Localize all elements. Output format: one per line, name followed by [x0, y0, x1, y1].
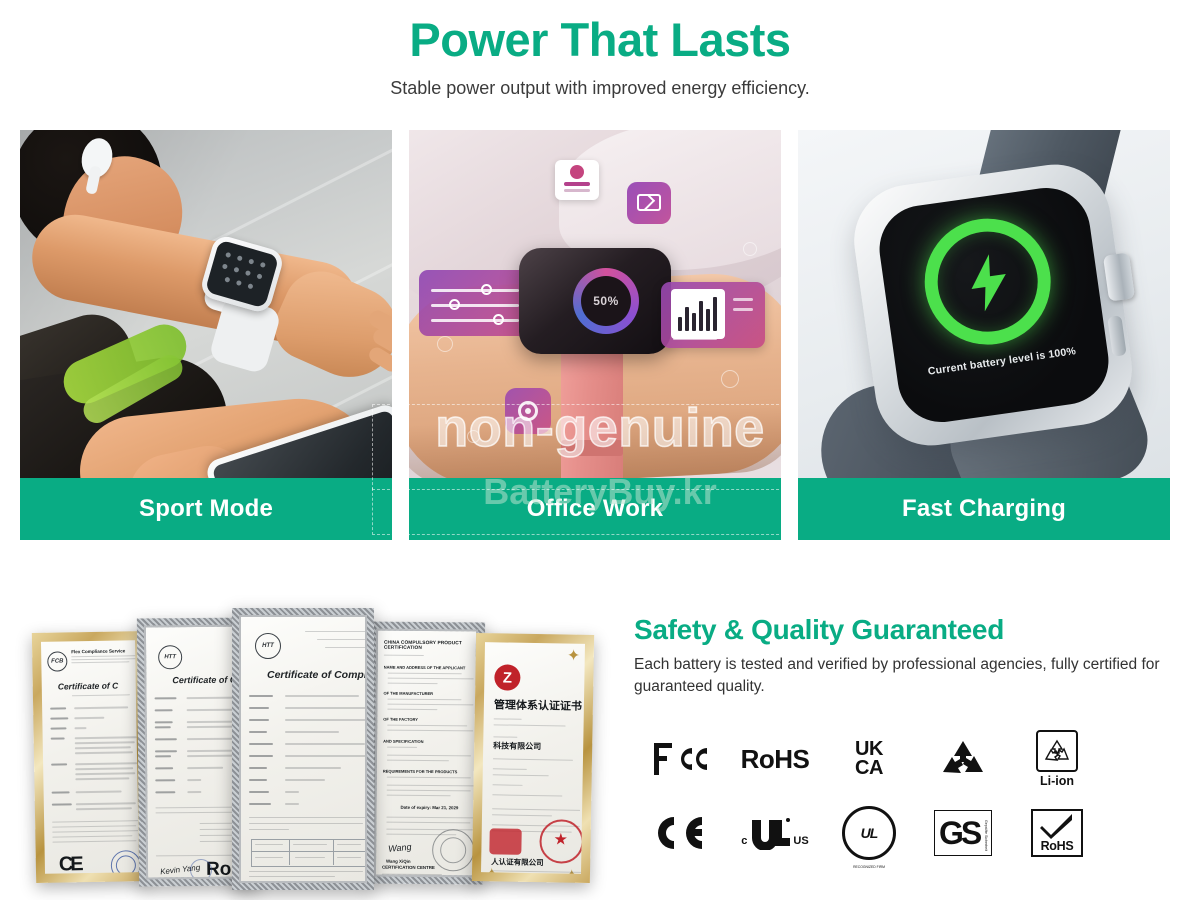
page-subtitle: Stable power output with improved energy…: [0, 76, 1200, 100]
rohs-label: RoHS: [741, 744, 810, 775]
feature-card-fast-charging[interactable]: Current battery level is 100% Fast Charg…: [798, 130, 1170, 540]
infographic-page: Power That Lasts Stable power output wit…: [0, 0, 1200, 900]
watermark-frame: [372, 404, 794, 490]
badge-rohs: RoHS: [728, 722, 822, 796]
ukca-label-bottom: CA: [855, 759, 883, 778]
gs-icon: GS Geprüfte Sicherheit: [934, 810, 992, 856]
smartwatch-office: 50%: [519, 248, 671, 354]
cul-us-icon: c US: [741, 816, 808, 850]
feature-caption-fast-charging: Fast Charging: [798, 478, 1170, 540]
fcc-icon: [652, 739, 710, 779]
chart-app-card: [661, 282, 765, 348]
battery-level-text: Current battery level is 100%: [896, 341, 1108, 382]
certificate-item[interactable]: ✦ ✦ ✦ Z 管理体系认证证书 科技有限公司 ★: [472, 633, 594, 883]
ul-mark-icon: [749, 816, 791, 850]
gs-label: GS: [939, 811, 979, 855]
battery-percent-label: 50%: [593, 294, 619, 308]
checkmark-icon: [1039, 813, 1075, 839]
badge-ce: [634, 796, 728, 870]
fast-charging-photo: Current battery level is 100%: [798, 130, 1170, 478]
badge-fcc: [634, 722, 728, 796]
recycle-icon: [941, 739, 985, 779]
safety-section: Safety & Quality Guaranteed Each battery…: [634, 612, 1182, 698]
certificate-gallery: FCB Flex Compliance Service Certificate …: [18, 600, 618, 890]
certificate-item[interactable]: FCB Flex Compliance Service Certificate …: [32, 631, 148, 883]
ul-label: UL: [861, 825, 878, 841]
badge-row-1: RoHS UK CA: [634, 722, 1104, 796]
ul-circle-icon: UL RECOGNIZED FIRM: [842, 806, 896, 860]
certificate-item[interactable]: CHINA COMPULSORY PRODUCT CERTIFICATION N…: [367, 621, 485, 884]
certificate-item[interactable]: HTT Certificate of Compliance: [232, 608, 374, 890]
badge-cul-us: c US: [728, 796, 822, 870]
badge-rohs-check: RoHS: [1010, 796, 1104, 870]
badge-ul-recognized: UL RECOGNIZED FIRM: [822, 796, 916, 870]
safety-title: Safety & Quality Guaranteed: [634, 612, 1182, 648]
liion-recycle-icon: Li-ion: [1036, 730, 1078, 788]
cul-us-label: US: [793, 835, 808, 847]
lightning-bolt-icon: [963, 252, 1014, 314]
feature-card-sport-mode[interactable]: Sport Mode: [20, 130, 392, 540]
hero-section: Power That Lasts Stable power output wit…: [0, 0, 1200, 120]
badge-liion: Li-ion: [1010, 722, 1104, 796]
ukca-icon: UK CA: [855, 740, 883, 778]
ce-mark-icon: [650, 813, 712, 853]
page-title: Power That Lasts: [0, 14, 1200, 66]
liion-label: Li-ion: [1040, 774, 1074, 788]
certification-badges: RoHS UK CA: [634, 722, 1104, 870]
badge-gs: GS Geprüfte Sicherheit: [916, 796, 1010, 870]
watermark-frame-lower: [372, 488, 794, 535]
safety-description: Each battery is tested and verified by p…: [634, 654, 1182, 698]
settings-sliders-card: [419, 270, 535, 336]
badge-recycle: [916, 722, 1010, 796]
badge-row-2: c US UL RECOGNIZED FIRM GS: [634, 796, 1104, 870]
smartwatch-charging-screen: Current battery level is 100%: [874, 182, 1114, 427]
ul-sublabel: RECOGNIZED FIRM: [831, 865, 907, 869]
rohs-check-label: RoHS: [1041, 839, 1074, 853]
sport-mode-photo: [20, 130, 392, 478]
mail-app-icon: [627, 182, 671, 224]
cul-c-label: c: [741, 835, 747, 847]
gs-sublabel: Geprüfte Sicherheit: [984, 820, 988, 851]
contact-card-icon: [555, 160, 599, 200]
recycle-outline-icon: [1044, 739, 1070, 763]
rohs-check-icon: RoHS: [1031, 809, 1083, 857]
feature-caption-sport-mode: Sport Mode: [20, 478, 392, 540]
badge-ukca: UK CA: [822, 722, 916, 796]
